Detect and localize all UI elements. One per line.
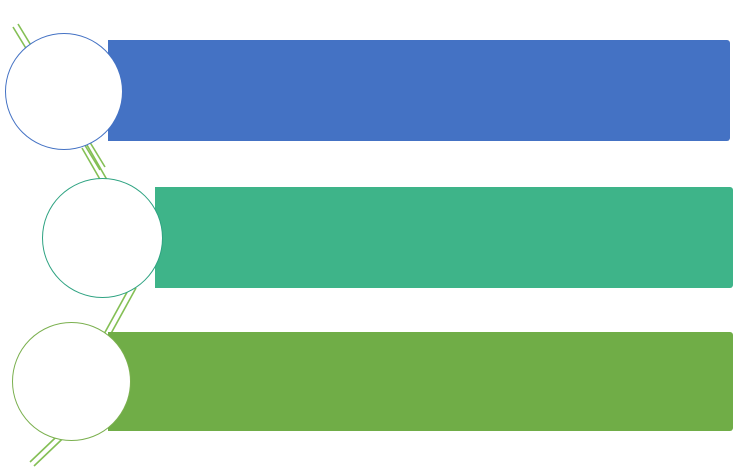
section-node-circle-1 bbox=[5, 33, 123, 150]
section-node-circle-3 bbox=[12, 322, 131, 441]
section-banner-1 bbox=[108, 40, 730, 141]
section-banner-3 bbox=[108, 332, 733, 431]
section-banner-2 bbox=[155, 187, 733, 288]
infographic-canvas: 高性能专业化密封产品的需求激增 石油天然气、汽车、航空航天等行业对设备可靠性要求… bbox=[0, 0, 741, 472]
section-node-circle-2 bbox=[42, 178, 163, 298]
